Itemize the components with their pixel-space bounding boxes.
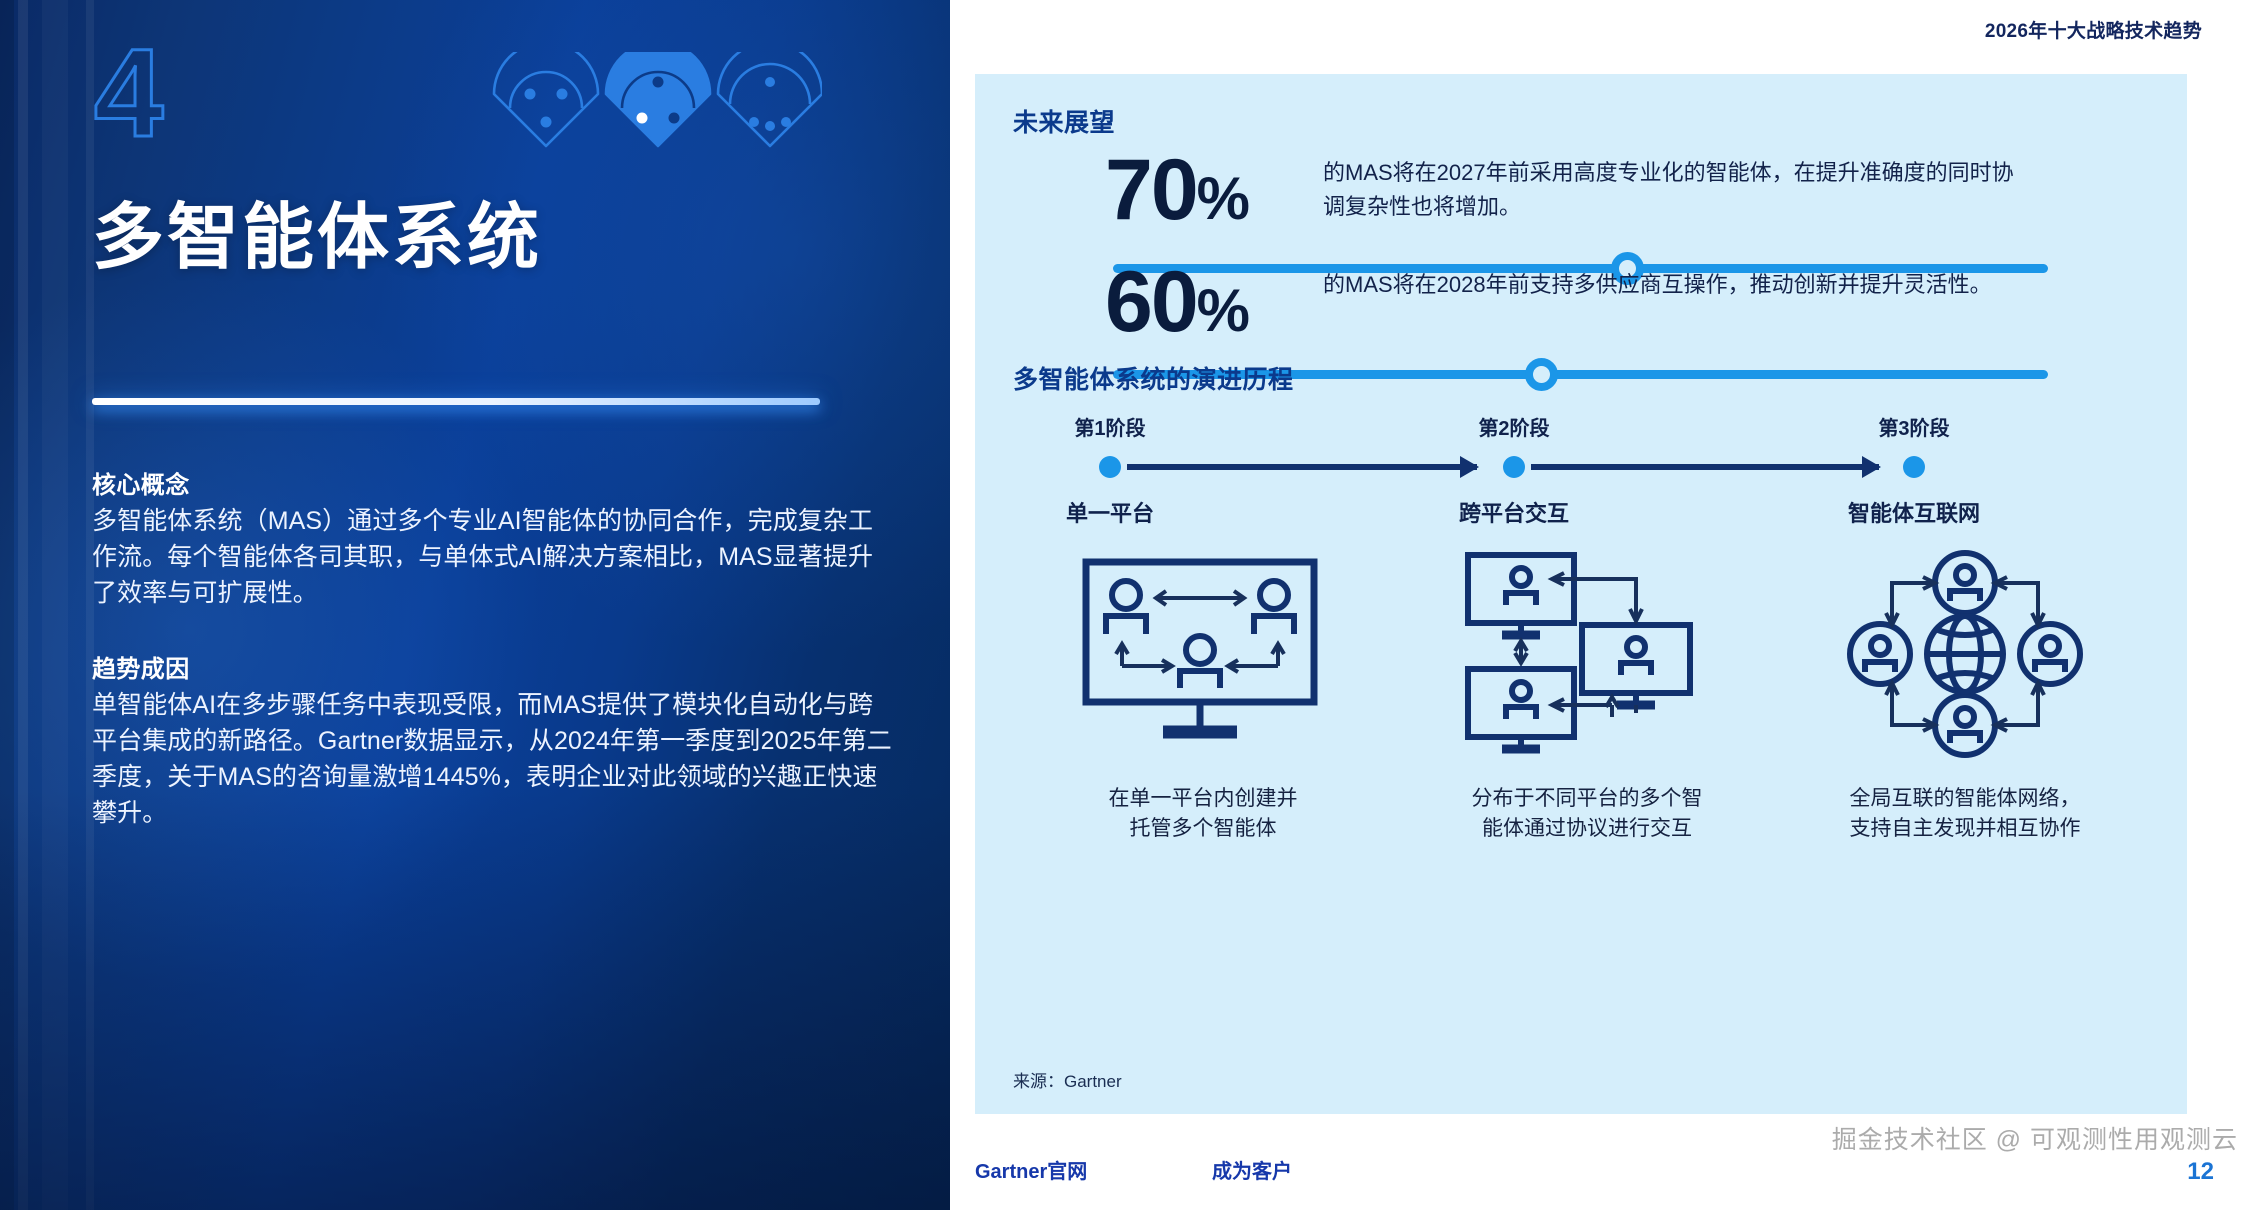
timeline-arrow-1 — [1127, 464, 1477, 470]
trend-number-4-icon: 4 — [92, 38, 212, 148]
agent-fan-icon-1 — [494, 52, 598, 146]
cross-platform-monitors-icon — [1407, 544, 1767, 764]
timeline-stage-label-3: 第3阶段 — [1799, 412, 2029, 441]
timeline-node-2 — [1503, 456, 1525, 478]
stat-text-70: 的MAS将在2027年前采用高度专业化的智能体，在提升准确度的同时协调复杂性也将… — [1323, 156, 2023, 224]
slider-knob-60[interactable] — [1525, 358, 1558, 391]
stat-percent-60: 60% — [1105, 254, 1248, 359]
edge-stripe — [0, 0, 14, 1210]
outlook-section-title: 未来展望 — [1013, 103, 1115, 139]
diagram-single-platform: 在单一平台内创建并托管多个智能体 — [1023, 544, 1383, 884]
agent-internet-globe-icon — [1785, 544, 2145, 764]
stat-percent-70: 70% — [1105, 142, 1248, 247]
diagram-row: 在单一平台内创建并托管多个智能体 — [975, 544, 2187, 884]
section-heading-core-concept: 核心概念 — [92, 465, 892, 500]
single-platform-monitor-icon — [1023, 544, 1383, 764]
title-divider — [92, 398, 820, 405]
bottom-vignette — [0, 790, 950, 1210]
left-body-text: 核心概念 多智能体系统（MAS）通过多个专业AI智能体的协同合作，完成复杂工作流… — [92, 465, 892, 831]
paragraph-gap — [92, 611, 892, 649]
diagram-caption-3: 全局互联的智能体网络，支持自主发现并相互协作 — [1785, 784, 2145, 844]
evolution-timeline: 第1阶段 第2阶段 第3阶段 单一平台 跨平台交互 智能体互联网 — [975, 404, 2187, 534]
diagram-cross-platform: 分布于不同平台的多个智能体通过协议进行交互 — [1407, 544, 1767, 884]
slide-root: 4 — [0, 0, 2250, 1210]
agent-fan-icon-2-filled — [606, 52, 710, 146]
left-title-panel: 4 — [0, 0, 950, 1210]
diagram-caption-2: 分布于不同平台的多个智能体通过协议进行交互 — [1407, 784, 1767, 844]
timeline-name-label-1: 单一平台 — [995, 496, 1225, 528]
timeline-stage-label-1: 第1阶段 — [995, 412, 1225, 441]
timeline-arrow-2 — [1531, 464, 1879, 470]
gartner-website-link[interactable]: Gartner官网 — [975, 1155, 1087, 1184]
percent-symbol-70: % — [1197, 165, 1248, 232]
slide-title: 多智能体系统 — [92, 178, 542, 283]
timeline-node-3 — [1903, 456, 1925, 478]
diagram-caption-1: 在单一平台内创建并托管多个智能体 — [1023, 784, 1383, 844]
watermark: 掘金技术社区 @ 可观测性用观测云 — [1832, 1120, 2238, 1156]
section-heading-trend-drivers: 趋势成因 — [92, 649, 892, 684]
section-body-trend-drivers: 单智能体AI在多步骤任务中表现受限，而MAS提供了模块化自动化与跨平台集成的新路… — [92, 687, 892, 831]
become-client-link[interactable]: 成为客户 — [1212, 1155, 1292, 1184]
decorative-stripe-1 — [18, 0, 28, 1210]
source-note: 来源：Gartner — [1013, 1067, 1122, 1092]
timeline-name-label-2: 跨平台交互 — [1399, 496, 1629, 528]
evolution-section-title: 多智能体系统的演进历程 — [1013, 360, 1294, 396]
svg-text:4: 4 — [94, 38, 164, 148]
decorative-stripe-2 — [42, 0, 68, 1210]
timeline-node-1 — [1099, 456, 1121, 478]
stat-percent-60-value: 60 — [1105, 254, 1197, 350]
agent-fan-icon-3 — [718, 52, 822, 146]
section-body-core-concept: 多智能体系统（MAS）通过多个专业AI智能体的协同合作，完成复杂工作流。每个智能… — [92, 503, 892, 611]
agent-fan-icons-group — [492, 52, 822, 152]
timeline-name-label-3: 智能体互联网 — [1799, 496, 2029, 528]
percent-symbol-60: % — [1197, 277, 1248, 344]
right-content-panel: 2026年十大战略技术趋势 未来展望 70% 的MAS将在2027年前采用高度专… — [950, 0, 2250, 1210]
stat-text-60: 的MAS将在2028年前支持多供应商互操作，推动创新并提升灵活性。 — [1323, 268, 2023, 302]
content-card: 未来展望 70% 的MAS将在2027年前采用高度专业化的智能体，在提升准确度的… — [975, 74, 2187, 1114]
page-number: 12 — [2187, 1158, 2214, 1186]
stat-percent-70-value: 70 — [1105, 142, 1197, 238]
diagram-agent-internet: 全局互联的智能体网络，支持自主发现并相互协作 — [1785, 544, 2145, 884]
timeline-stage-label-2: 第2阶段 — [1399, 412, 1629, 441]
page-header-title: 2026年十大战略技术趋势 — [1985, 16, 2202, 43]
